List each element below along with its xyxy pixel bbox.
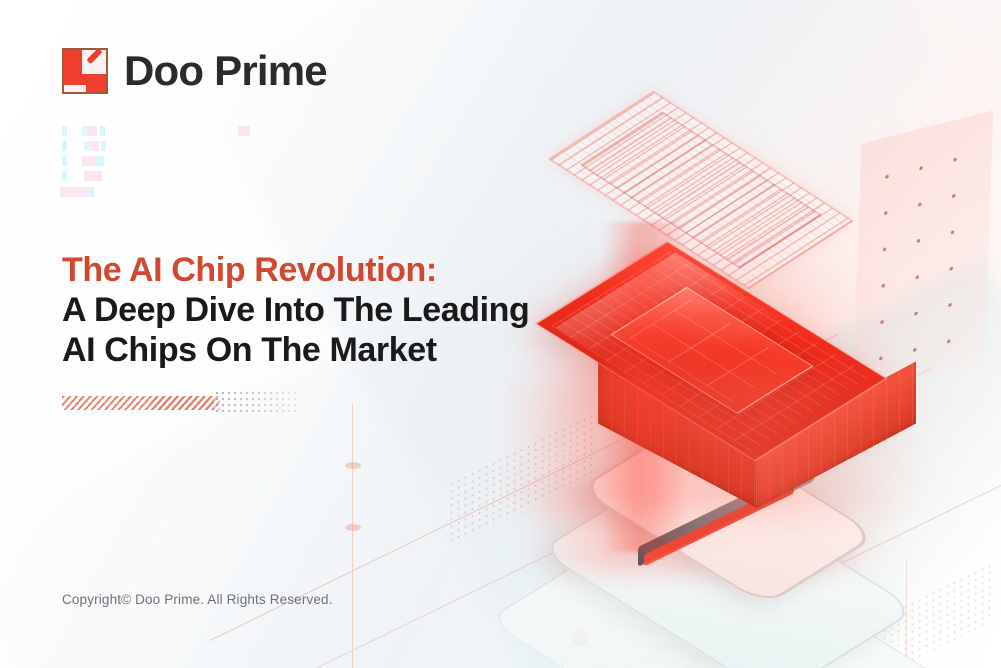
circuit-node-1	[345, 462, 361, 469]
headline-line-3: AI Chips On The Market	[62, 330, 532, 370]
ghost-bar-5	[88, 187, 94, 197]
logo-slash-lower	[86, 74, 102, 90]
ghost-pink-4	[84, 171, 102, 181]
circuit-trace-vertical-1	[352, 404, 353, 668]
doo-prime-flag-icon	[62, 48, 108, 94]
ghost-pink-1	[88, 126, 97, 136]
headline-line-2: A Deep Dive Into The Leading	[62, 290, 532, 330]
circuit-node-2	[345, 524, 361, 531]
ghost-pink-5	[60, 187, 90, 197]
headline-line-1: The AI Chip Revolution:	[62, 250, 532, 290]
copyright-text: Copyright© Doo Prime. All Rights Reserve…	[62, 592, 333, 607]
ghost-bar-far-1	[238, 126, 250, 136]
logo-foot	[64, 85, 86, 92]
decorative-stripe-fade	[150, 396, 220, 410]
ghost-bar-2b	[101, 141, 106, 151]
page-title: The AI Chip Revolution: A Deep Dive Into…	[62, 250, 532, 370]
brand-lockup[interactable]: Doo Prime	[62, 48, 327, 94]
chip-glow-band	[504, 374, 934, 514]
ghost-bar-3b	[96, 156, 104, 166]
ghost-stat-rows	[60, 124, 260, 202]
ghost-bar-4	[62, 171, 67, 181]
brand-wordmark: Doo Prime	[124, 50, 327, 92]
ghost-pink-2	[90, 141, 99, 151]
ghost-bar-2	[62, 141, 67, 151]
ghost-bar-1	[62, 126, 67, 136]
ghost-bar-3	[62, 156, 67, 166]
chip-glare-bar	[602, 222, 688, 552]
ghost-bar-1b	[100, 126, 105, 136]
ai-chip-illustration	[498, 74, 968, 594]
promo-banner: Doo Prime The AI Chip Revolution: A Deep…	[0, 0, 1001, 668]
decorative-dot-matrix	[214, 390, 298, 412]
